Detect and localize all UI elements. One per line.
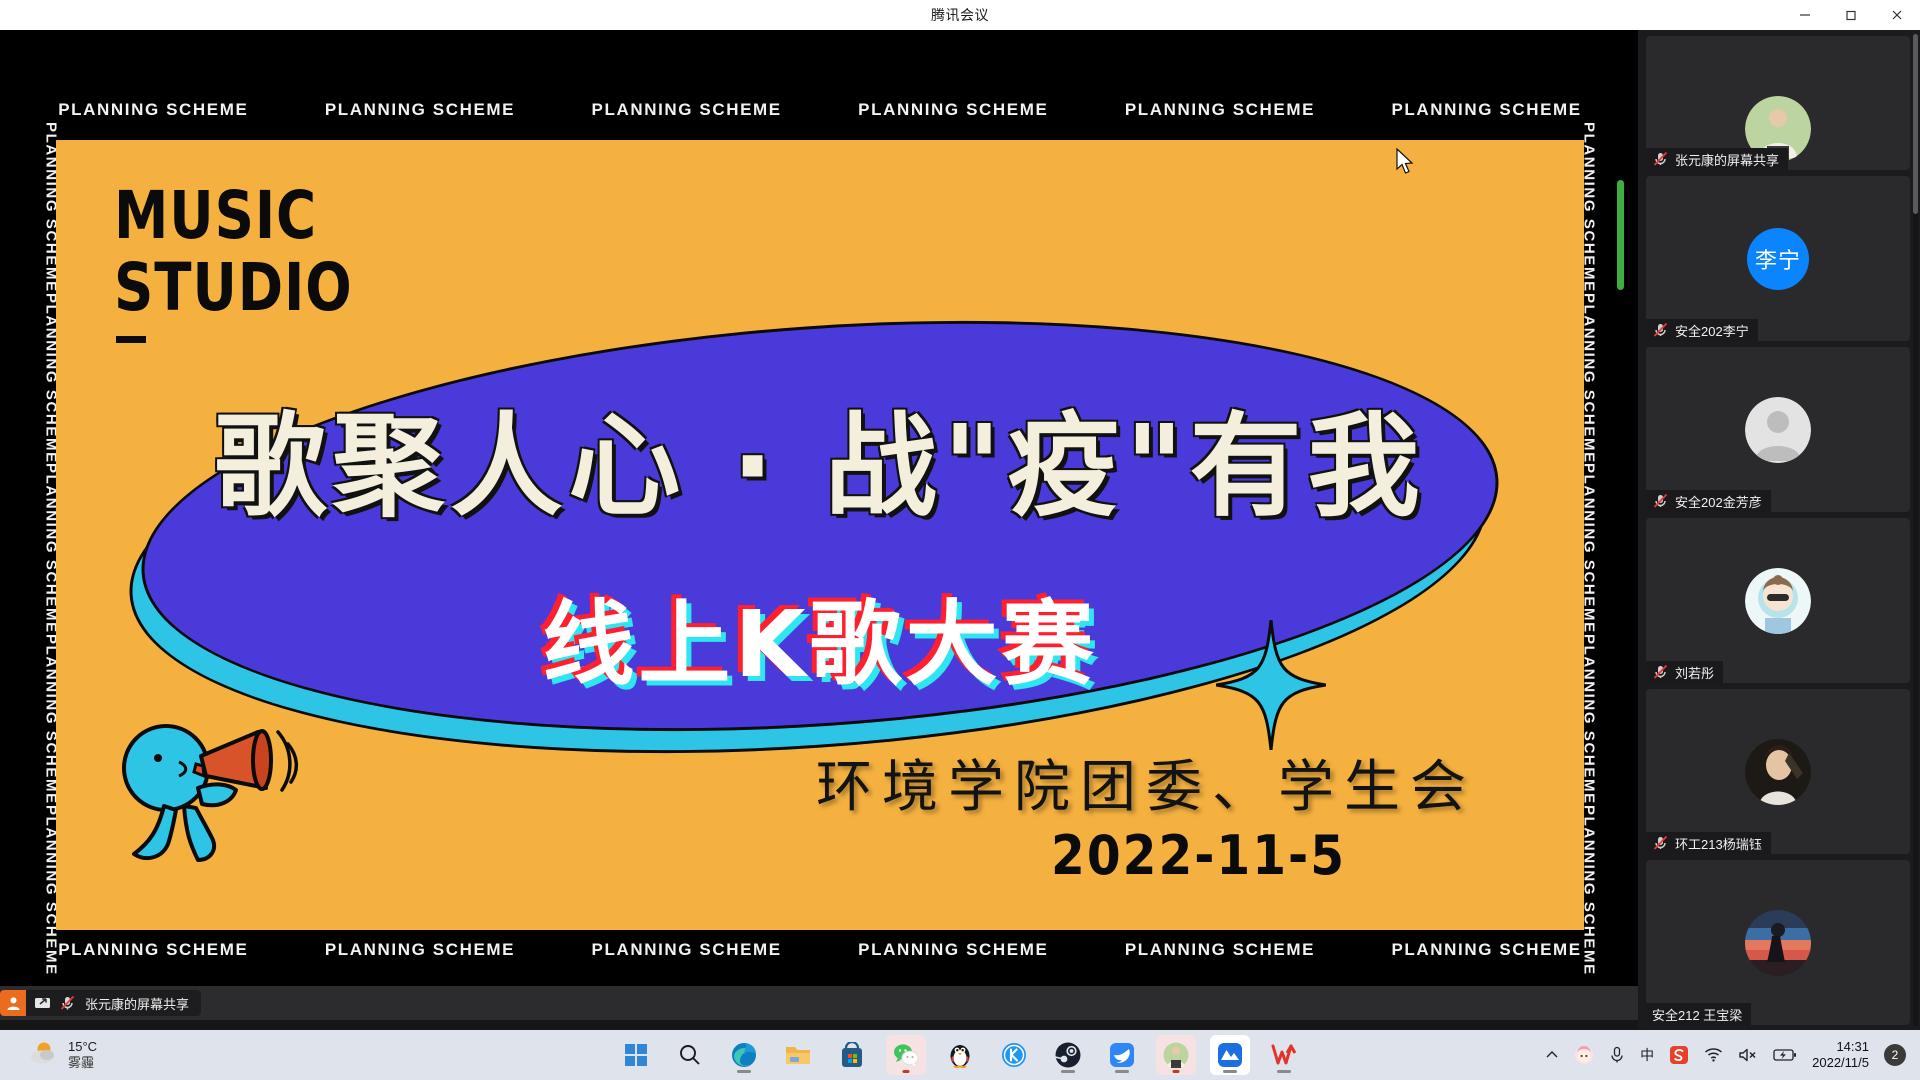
participant-name: 安全202李宁 [1675,321,1749,340]
clock-time: 14:31 [1812,1039,1869,1055]
participant-tile[interactable]: 安全212 王宝梁 [1646,860,1910,1025]
app-running-indicator [903,1070,910,1073]
tencent-meeting-button[interactable] [1210,1035,1250,1075]
shared-screen-stage[interactable]: PLANNING SCHEMEPLANNING SCHEMEPLANNING S… [0,30,1638,1020]
panel-scrollbar[interactable] [1913,34,1918,1026]
store-icon [840,1042,864,1068]
search-button[interactable] [670,1035,710,1075]
clock-date: 2022/11/5 [1812,1055,1869,1071]
band-label: PLANNING SCHEME [858,100,1048,120]
bird-app-button[interactable] [1102,1035,1142,1075]
band-top: PLANNING SCHEMEPLANNING SCHEMEPLANNING S… [20,84,1620,136]
band-label: PLANNING SCHEME [1125,100,1315,120]
megaphone-mascot-icon [106,710,316,880]
participant-tile[interactable]: 李宁安全202李宁 [1646,176,1910,341]
participant-nametag: 环工213杨瑞钰 [1646,832,1771,854]
microphone-icon[interactable] [1609,1046,1625,1064]
participant-nametag: 安全202金芳彦 [1646,490,1771,512]
mic-muted-icon [1652,322,1669,338]
qq-penguin-icon [949,1042,971,1068]
band-bottom: PLANNING SCHEMEPLANNING SCHEMEPLANNING S… [20,924,1620,976]
participant-tile[interactable]: 安全202金芳彦 [1646,347,1910,512]
wechat-icon [893,1043,919,1067]
weather-condition: 雾霾 [68,1055,97,1071]
microsoft-store-button[interactable] [832,1035,872,1075]
band-label: PLANNING SCHEME [58,940,248,960]
mic-muted-icon [59,995,76,1011]
band-label: PLANNING SCHEME [858,940,1048,960]
avatar-photo-icon [1163,1042,1189,1068]
participant-nametag: 刘若彤 [1646,661,1723,683]
tencent-meeting-icon [1217,1042,1243,1068]
band-label: PLANNING SCHEME [1125,940,1315,960]
window-title-bar: 腾讯会议 [0,0,1920,30]
folder-icon [785,1043,811,1067]
poster-subheadline: 线上K歌大赛 [56,570,1584,703]
edge-button[interactable] [724,1035,764,1075]
app-running-indicator [1223,1070,1237,1073]
blue-bird-icon [1109,1042,1135,1068]
screen-share-indicator-bar: 张元康的屏幕共享 [0,986,1638,1020]
kugou-button[interactable] [994,1035,1034,1075]
poster-canvas: MUSIC STUDIO 歌聚人心 · 战"疫"有我 线上K歌大赛 环境学院团委… [56,140,1584,930]
wechat-button[interactable] [886,1035,926,1075]
app-running-indicator [1173,1070,1180,1073]
avatar [1745,568,1811,634]
steam-icon [1055,1042,1081,1068]
participant-nametag: 安全202李宁 [1646,319,1758,341]
band-label: PLANNING SCHEME [325,100,515,120]
sparkle-icon [1216,620,1326,750]
start-button[interactable] [616,1035,656,1075]
search-icon [678,1043,702,1067]
system-tray: 中 14:31 2022/11/5 2 [1545,1039,1906,1072]
weather-temperature: 15°C [68,1039,97,1055]
band-label: PLANNING SCHEME [1391,100,1581,120]
taskbar-clock[interactable]: 14:31 2022/11/5 [1812,1039,1869,1072]
weather-haze-icon [28,1040,58,1071]
presentation-slide: PLANNING SCHEMEPLANNING SCHEMEPLANNING S… [20,70,1620,990]
qq-button[interactable] [940,1035,980,1075]
file-explorer-button[interactable] [778,1035,818,1075]
brand-dash [116,336,146,343]
brand-line-2: STUDIO [114,252,353,324]
participant-name: 张元康的屏幕共享 [1675,150,1779,169]
avatar [1745,397,1811,463]
participant-tiles: 张元康的屏幕共享李宁安全202李宁安全202金芳彦刘若彤环工213杨瑞钰安全21… [1646,36,1910,1025]
windows-taskbar: 15°C 雾霾 中 14:31 2022/11/5 2 [0,1030,1920,1080]
brand-line-1: MUSIC [114,180,353,252]
poster-brand: MUSIC STUDIO [114,180,353,324]
screen-share-label: 张元康的屏幕共享 [85,994,189,1013]
weather-text: 15°C 雾霾 [68,1039,97,1070]
window-title: 腾讯会议 [931,5,989,25]
steam-button[interactable] [1048,1035,1088,1075]
participant-nametag: 张元康的屏幕共享 [1646,148,1788,170]
band-label: PLANNING SCHEME [58,100,248,120]
sogou-input-icon[interactable] [1669,1045,1689,1065]
taskbar-apps [616,1035,1304,1075]
participant-nametag: 安全212 王宝梁 [1646,1003,1751,1025]
windows-logo-icon [624,1043,648,1067]
edge-icon [731,1042,757,1068]
maximize-button[interactable] [1828,0,1874,30]
screen-share-icon [34,996,51,1011]
app-running-indicator [1115,1070,1129,1073]
participants-panel[interactable]: 正在讲话: 张元康的屏幕共享李宁安全202李宁安全202金芳彦刘若彤环工213杨… [1638,30,1920,1030]
participant-name: 安全202金芳彦 [1675,492,1762,511]
participant-name: 安全212 王宝梁 [1652,1005,1742,1024]
band-label: PLANNING SCHEME [325,940,515,960]
close-button[interactable] [1874,0,1920,30]
mouse-cursor-icon [1396,148,1416,176]
volume-muted-icon[interactable] [1738,1047,1758,1063]
band-label: PLANNING SCHEME [592,940,782,960]
wps-icon [1271,1043,1297,1067]
participant-name: 环工213杨瑞钰 [1675,834,1762,853]
mic-muted-icon [1652,151,1669,167]
meeting-window: PLANNING SCHEMEPLANNING SCHEMEPLANNING S… [0,30,1920,1030]
profile-app-button[interactable] [1156,1035,1196,1075]
band-label: PLANNING SCHEME [1391,940,1581,960]
app-running-indicator [1277,1070,1291,1073]
avatar [1745,910,1811,976]
app-running-indicator [737,1070,751,1073]
minimize-button[interactable] [1782,0,1828,30]
panel-scrollbar-thumb[interactable] [1913,34,1918,214]
screen-share-chip[interactable]: 张元康的屏幕共享 [0,990,201,1016]
mic-muted-icon [1652,835,1669,851]
stage-scrollbar[interactable] [1617,180,1624,290]
wps-button[interactable] [1264,1035,1304,1075]
ime-indicator[interactable]: 中 [1640,1045,1654,1065]
app-running-indicator [1061,1070,1075,1073]
battery-charging-icon[interactable] [1773,1048,1797,1062]
participant-name: 刘若彤 [1675,663,1714,682]
participant-tile[interactable]: 张元康的屏幕共享 [1646,36,1910,170]
wifi-icon[interactable] [1704,1047,1723,1063]
poster-headline: 歌聚人心 · 战"疫"有我 [56,376,1584,538]
participant-tile[interactable]: 环工213杨瑞钰 [1646,689,1910,854]
weather-widget[interactable]: 15°C 雾霾 [28,1039,97,1070]
user-icon [0,990,26,1016]
avatar [1745,739,1811,805]
notification-badge[interactable]: 2 [1884,1044,1906,1066]
kugou-k-icon [1001,1042,1027,1068]
window-controls [1782,0,1920,30]
participant-tile[interactable]: 刘若彤 [1646,518,1910,683]
avatar: 李宁 [1747,228,1809,290]
anime-avatar-icon[interactable] [1574,1045,1594,1065]
mic-muted-icon [1652,493,1669,509]
chevron-up-icon[interactable] [1545,1048,1559,1062]
band-label: PLANNING SCHEME [592,100,782,120]
mic-muted-icon [1652,664,1669,680]
